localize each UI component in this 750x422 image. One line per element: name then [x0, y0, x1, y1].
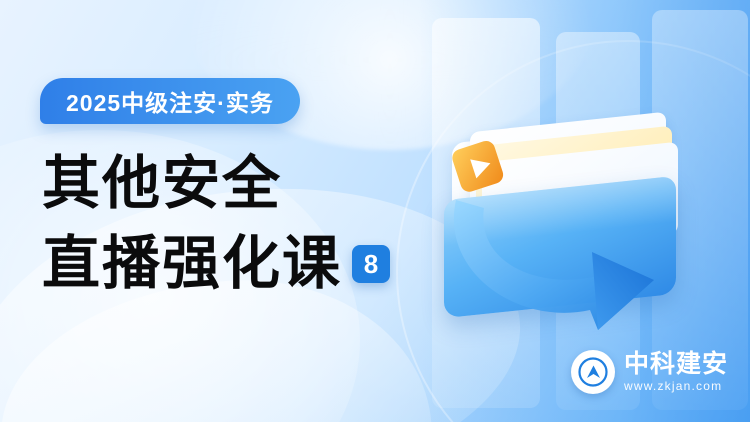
play-badge-icon: [448, 136, 510, 198]
brand-url: www.zkjan.com: [624, 378, 728, 394]
title-block: 其他安全 直播强化课 8: [42, 150, 442, 298]
folder-illustration: [430, 110, 730, 340]
compass-icon: [571, 350, 615, 394]
course-tag-badge: 2025中级注安·实务: [40, 78, 300, 124]
title-line-1: 其他安全: [42, 151, 282, 216]
title-line-1-wrapper: 其他安全: [42, 150, 282, 218]
brand-text-block: 中科建安 www.zkjan.com: [624, 350, 728, 394]
title-line-2: 直播强化课: [42, 230, 342, 298]
course-banner: 2025中级注安·实务 其他安全 直播强化课 8 中科建安 www.zkjan.…: [0, 0, 750, 422]
brand-logo: 中科建安 www.zkjan.com: [571, 350, 728, 394]
brand-name: 中科建安: [624, 350, 728, 378]
course-tag-label: 2025中级注安·实务: [66, 84, 274, 118]
lesson-number-badge: 8: [352, 245, 390, 283]
title-line-2-row: 直播强化课 8: [42, 230, 442, 298]
